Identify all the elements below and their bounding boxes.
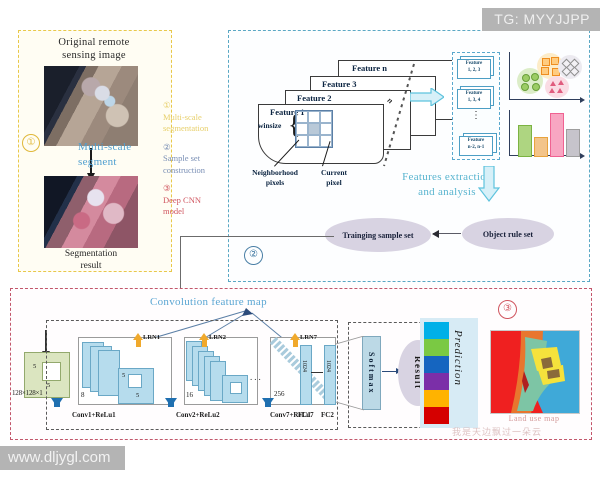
panel-marker-3: ③ — [498, 300, 517, 319]
input-size-label: 128×128×1 — [12, 389, 43, 397]
segmentation-result-label: Segmentation result — [40, 248, 142, 272]
fc1-fc2-connector — [311, 372, 323, 373]
conv1-feature-3 — [98, 350, 120, 396]
land-use-map-image — [490, 330, 580, 414]
current-pixel-line2: pixel — [312, 178, 356, 188]
segmentation-result-line1: Segmentation — [40, 248, 142, 260]
legend-color-2 — [424, 339, 449, 356]
current-pixel-line1: Current — [312, 168, 356, 178]
legend-color-6 — [424, 407, 449, 424]
fc1-units-label: 1024 — [301, 360, 307, 372]
lrn1-label: LRN1 — [143, 334, 160, 341]
legend-item-1-line2: segmentation — [163, 123, 233, 135]
grid-cell — [320, 123, 332, 135]
legend-item-3-num: ③ — [163, 183, 233, 195]
multiscale-segment-line1: Multi-scale — [78, 140, 164, 155]
fc-to-softmax-guides-icon — [336, 336, 366, 412]
conv7-down-arrow-icon — [262, 398, 274, 407]
original-image-title: Original remote sensing image — [24, 36, 164, 62]
segmentation-result-image — [44, 176, 138, 248]
feature-subset-2-line2: 1, 3, 4 — [468, 98, 481, 103]
prediction-label: Prediction — [452, 330, 464, 414]
conv2-down-arrow-icon — [165, 398, 177, 407]
n-dotted-diagonal-icon — [380, 62, 420, 172]
legend-item-3: ③ Deep CNN model — [163, 183, 233, 218]
bar-x-arrow-icon — [580, 153, 585, 159]
feature-subset-1-line1: Feature — [466, 61, 483, 66]
bar-1 — [518, 125, 532, 157]
rule-to-sample-arrow-icon — [433, 233, 461, 234]
training-sample-set-node: Trainging sample set — [325, 218, 431, 252]
lrn7-label: LRN7 — [300, 334, 317, 341]
segmentation-result-line2: result — [40, 260, 142, 272]
feature-card-2-label: Feature 2 — [297, 93, 332, 103]
lrn1-arrow-icon — [133, 333, 143, 340]
grid-cell — [308, 111, 320, 123]
arrow-down-icon — [478, 166, 500, 202]
feature-subset-ellipsis: ⋮ — [471, 110, 481, 121]
cluster-pink — [545, 76, 569, 98]
scatter-x-axis — [509, 99, 581, 100]
workflow-legend: ① Multi-scale segmentation ② Sample set … — [163, 100, 233, 225]
winsize-label: winsize — [258, 121, 281, 130]
multiscale-segment-line2: segment — [78, 155, 164, 170]
conv7-channels: 256 — [274, 390, 285, 398]
multiscale-segment-label: Multi-scale segment — [78, 140, 164, 170]
original-satellite-image — [44, 66, 138, 146]
bar-4 — [566, 129, 580, 157]
legend-item-1-num: ① — [163, 100, 233, 112]
panel1-to-panel3-connector-v — [180, 236, 181, 290]
lrn2-arrow-icon — [199, 333, 209, 340]
panel-marker-1: ① — [22, 134, 40, 152]
bar-y-axis — [509, 110, 510, 156]
bar-chart — [505, 108, 587, 162]
input-kernel-size-a: 5 — [33, 363, 36, 370]
feature-card-3-label: Feature 3 — [322, 79, 357, 89]
legend-item-2: ② Sample set construction — [163, 142, 233, 177]
chinese-watermark: 我是天边飘过一朵云 — [452, 425, 542, 438]
fc2-block — [324, 345, 336, 405]
fc2-label: FC2 — [321, 411, 334, 419]
land-use-map-svg — [491, 331, 579, 413]
panel1-to-panel3-connector-h — [180, 236, 334, 237]
conv2-channels: 16 — [186, 391, 193, 399]
stage-ellipsis: ... — [250, 372, 263, 382]
conv1-channels: 8 — [81, 391, 85, 399]
arrow-right-icon — [410, 88, 444, 106]
neighborhood-pixels-line2: pixels — [246, 178, 304, 188]
feature-subset-2: Feature 1, 3, 4 — [457, 89, 491, 109]
scatter-x-arrow-icon — [580, 97, 585, 103]
panel-marker-2: ② — [244, 246, 263, 265]
conv2-stage-label: Conv2+ReLu2 — [176, 411, 220, 419]
conv1-kernel-size-a: 5 — [122, 372, 125, 379]
legend-item-2-num: ② — [163, 142, 233, 154]
fc2-units-label: 1024 — [325, 360, 331, 372]
prediction-color-legend — [424, 322, 449, 424]
fc1-label: FC1 — [298, 411, 311, 419]
original-image-title-line2: sensing image — [24, 49, 164, 62]
conv1-kernel-size-b: 5 — [136, 392, 139, 399]
grid-cell — [320, 111, 332, 123]
legend-item-3-line1: Deep CNN — [163, 195, 233, 207]
feature-analysis-charts — [505, 50, 587, 162]
legend-color-4 — [424, 373, 449, 390]
cluster-gray — [558, 55, 582, 79]
lrn7-arrow-icon — [290, 333, 300, 340]
neighborhood-pixels-line1: Neighborhood — [246, 168, 304, 178]
legend-color-1 — [424, 322, 449, 339]
feature-subset-1-line2: 1, 2, 3 — [468, 68, 481, 73]
original-image-title-line1: Original remote — [24, 36, 164, 49]
conv1-stage-label: Conv1+ReLu1 — [72, 411, 116, 419]
lrn2-label: LRN2 — [209, 334, 226, 341]
legend-item-2-line1: Sample set — [163, 153, 233, 165]
site-watermark: www.dljygl.com — [0, 446, 125, 470]
legend-color-5 — [424, 390, 449, 407]
legend-item-1: ① Multi-scale segmentation — [163, 100, 233, 135]
bar-3 — [550, 113, 564, 157]
legend-item-3-line2: model — [163, 206, 233, 218]
telegram-watermark: TG: MYYJJPP — [482, 8, 600, 31]
feature-subset-2-line1: Feature — [466, 91, 483, 96]
grid-cell — [296, 111, 308, 123]
bar-2 — [534, 137, 548, 157]
neighborhood-grid — [295, 110, 333, 148]
feature-subset-1: Feature 1, 2, 3 — [457, 59, 491, 79]
current-pixel-label: Current pixel — [312, 168, 356, 188]
land-use-map-label: Land use map — [486, 414, 582, 423]
convolution-feature-map-label: Convolution feature map — [150, 296, 267, 308]
grid-cell — [296, 123, 308, 135]
grid-cell-center — [308, 123, 320, 135]
legend-item-2-line2: construction — [163, 165, 233, 177]
scatter-chart — [505, 50, 587, 104]
conv2-feature-large — [222, 375, 248, 403]
legend-color-3 — [424, 356, 449, 373]
grid-cell — [308, 135, 320, 147]
legend-item-1-line1: Multi-scale — [163, 112, 233, 124]
scatter-y-axis — [509, 52, 510, 100]
feature-subset-3-line1: Feature — [468, 138, 485, 143]
object-rule-set-node: Object rule set — [462, 218, 554, 250]
softmax-to-result-arrow-icon — [382, 371, 396, 372]
feature-subset-3-line2: n-2, n-1 — [468, 145, 484, 150]
neighborhood-pixels-label: Neighborhood pixels — [246, 168, 304, 188]
conv1-down-arrow-icon — [51, 398, 63, 407]
fc1-block — [300, 345, 312, 405]
feature-subset-3: Feature n-2, n-1 — [459, 136, 493, 156]
